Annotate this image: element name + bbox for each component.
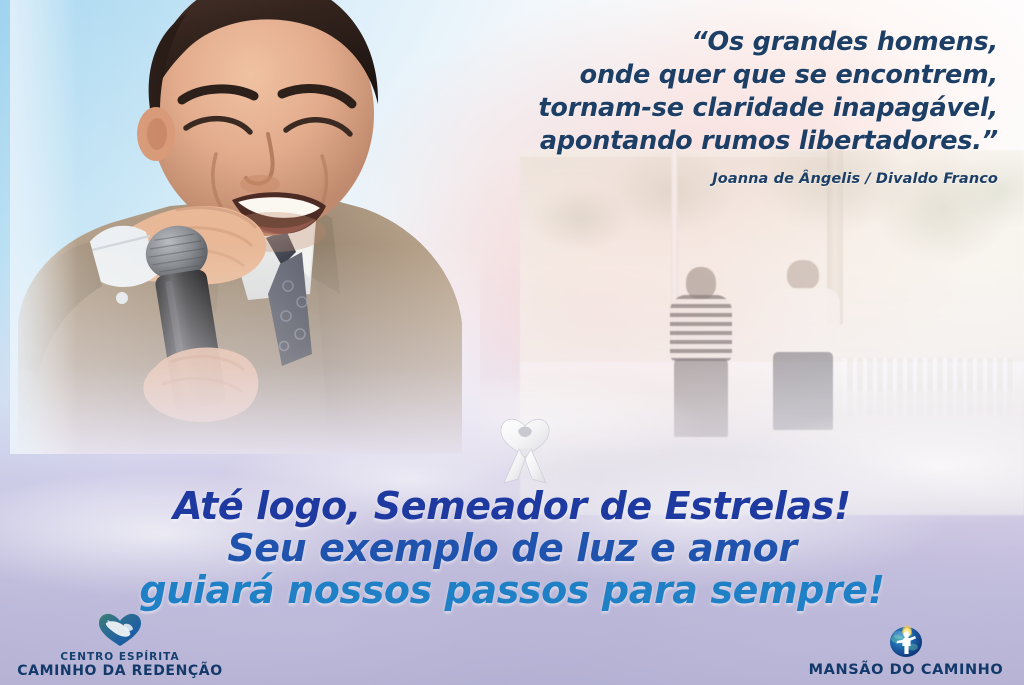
scene-figure-white-shirt [757, 260, 849, 442]
scene-wall [520, 362, 1024, 399]
memorial-poster: “Os grandes homens, onde quer que se enc… [0, 0, 1024, 685]
figure-torso [670, 295, 732, 361]
figure-head [686, 267, 716, 299]
heart-hands-icon [97, 612, 143, 648]
figure-head [787, 260, 819, 290]
logo-left-line-2: CAMINHO DA REDENÇÃO [17, 663, 222, 679]
quote-line-1: “Os grandes homens, [378, 26, 998, 59]
figure-legs [773, 352, 833, 430]
logo-mansao-do-caminho: MANSÃO DO CAMINHO [800, 623, 1012, 679]
figure-torso [766, 288, 840, 350]
background-scene-photo [520, 150, 1024, 515]
scene-figure-striped-shirt [661, 267, 741, 442]
globe-figure-icon [883, 623, 929, 659]
quote-block: “Os grandes homens, onde quer que se enc… [378, 26, 998, 187]
figure-legs [674, 359, 728, 437]
logo-right-line-1: MANSÃO DO CAMINHO [809, 662, 1004, 679]
quote-line-2: onde quer que se encontrem, [378, 59, 998, 92]
quote-attribution: Joanna de Ângelis / Divaldo Franco [378, 171, 998, 187]
headline-line-2: Seu exemplo de luz e amor [0, 529, 1024, 567]
logo-centro-espirita: CENTRO ESPÍRITA CAMINHO DA REDENÇÃO [14, 612, 226, 679]
scene-sky [520, 150, 1024, 515]
headline-line-1: Até logo, Semeador de Estrelas! [0, 487, 1024, 525]
headline-block: Até logo, Semeador de Estrelas! Seu exem… [0, 487, 1024, 609]
mourning-ribbon-icon [494, 409, 556, 487]
quote-line-4: apontando rumos libertadores.” [378, 125, 998, 158]
logo-left-line-1: CENTRO ESPÍRITA [60, 651, 179, 663]
scene-fence [843, 358, 1014, 416]
headline-line-3: guiará nossos passos para sempre! [0, 571, 1024, 609]
quote-line-3: tornam-se claridade inapagável, [378, 92, 998, 125]
